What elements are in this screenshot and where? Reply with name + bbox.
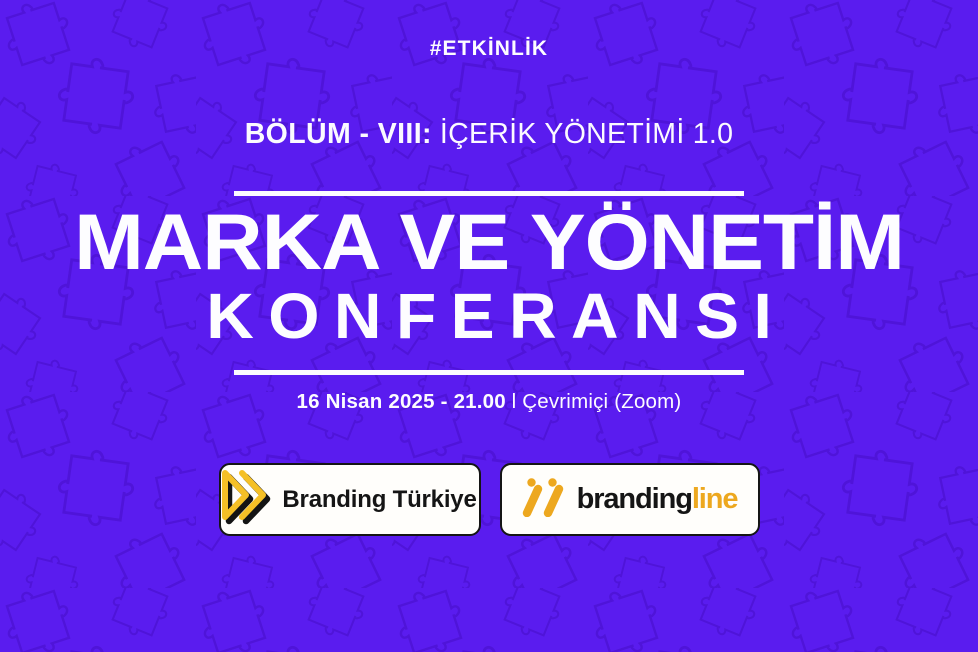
event-datetime: 16 Nisan 2025 - 21.00 l Çevrimiçi (Zoom) [297,392,682,413]
poster-content: #ETKİNLİK BÖLÜM - VIII: İÇERİK YÖNETİMİ … [0,0,978,652]
event-date-time-label: 16 Nisan 2025 - 21.00 [297,390,506,413]
logo-card-brandingline[interactable]: brandingline [500,463,760,536]
logo-card-branding-turkiye[interactable]: Branding Türkiye [219,463,481,536]
title-line-2: KONFERANSI [0,283,978,350]
logo-label-branding-turkiye: Branding Türkiye [282,488,476,512]
double-slash-icon [522,477,568,522]
episode-number-label: BÖLÜM - VIII: [245,118,432,150]
stylized-b-icon [220,469,274,530]
hashtag-label: #ETKİNLİK [430,38,548,59]
logo-label-brandingline-primary: branding [577,483,692,515]
logo-label-brandingline: brandingline [577,485,738,514]
logo-label-brandingline-accent: line [692,483,738,515]
episode-line: BÖLÜM - VIII: İÇERİK YÖNETİMİ 1.0 [245,120,734,149]
event-poster: #ETKİNLİK BÖLÜM - VIII: İÇERİK YÖNETİMİ … [0,0,978,652]
sponsor-logo-row: Branding Türkiye brandingline [219,463,760,536]
event-location-label: l Çevrimiçi (Zoom) [512,390,682,413]
episode-topic-label: İÇERİK YÖNETİMİ 1.0 [440,118,733,150]
title-line-1: MARKA VE YÖNETİM [0,202,978,281]
divider-bottom [234,370,744,375]
event-title: MARKA VE YÖNETİM KONFERANSI [0,196,978,350]
